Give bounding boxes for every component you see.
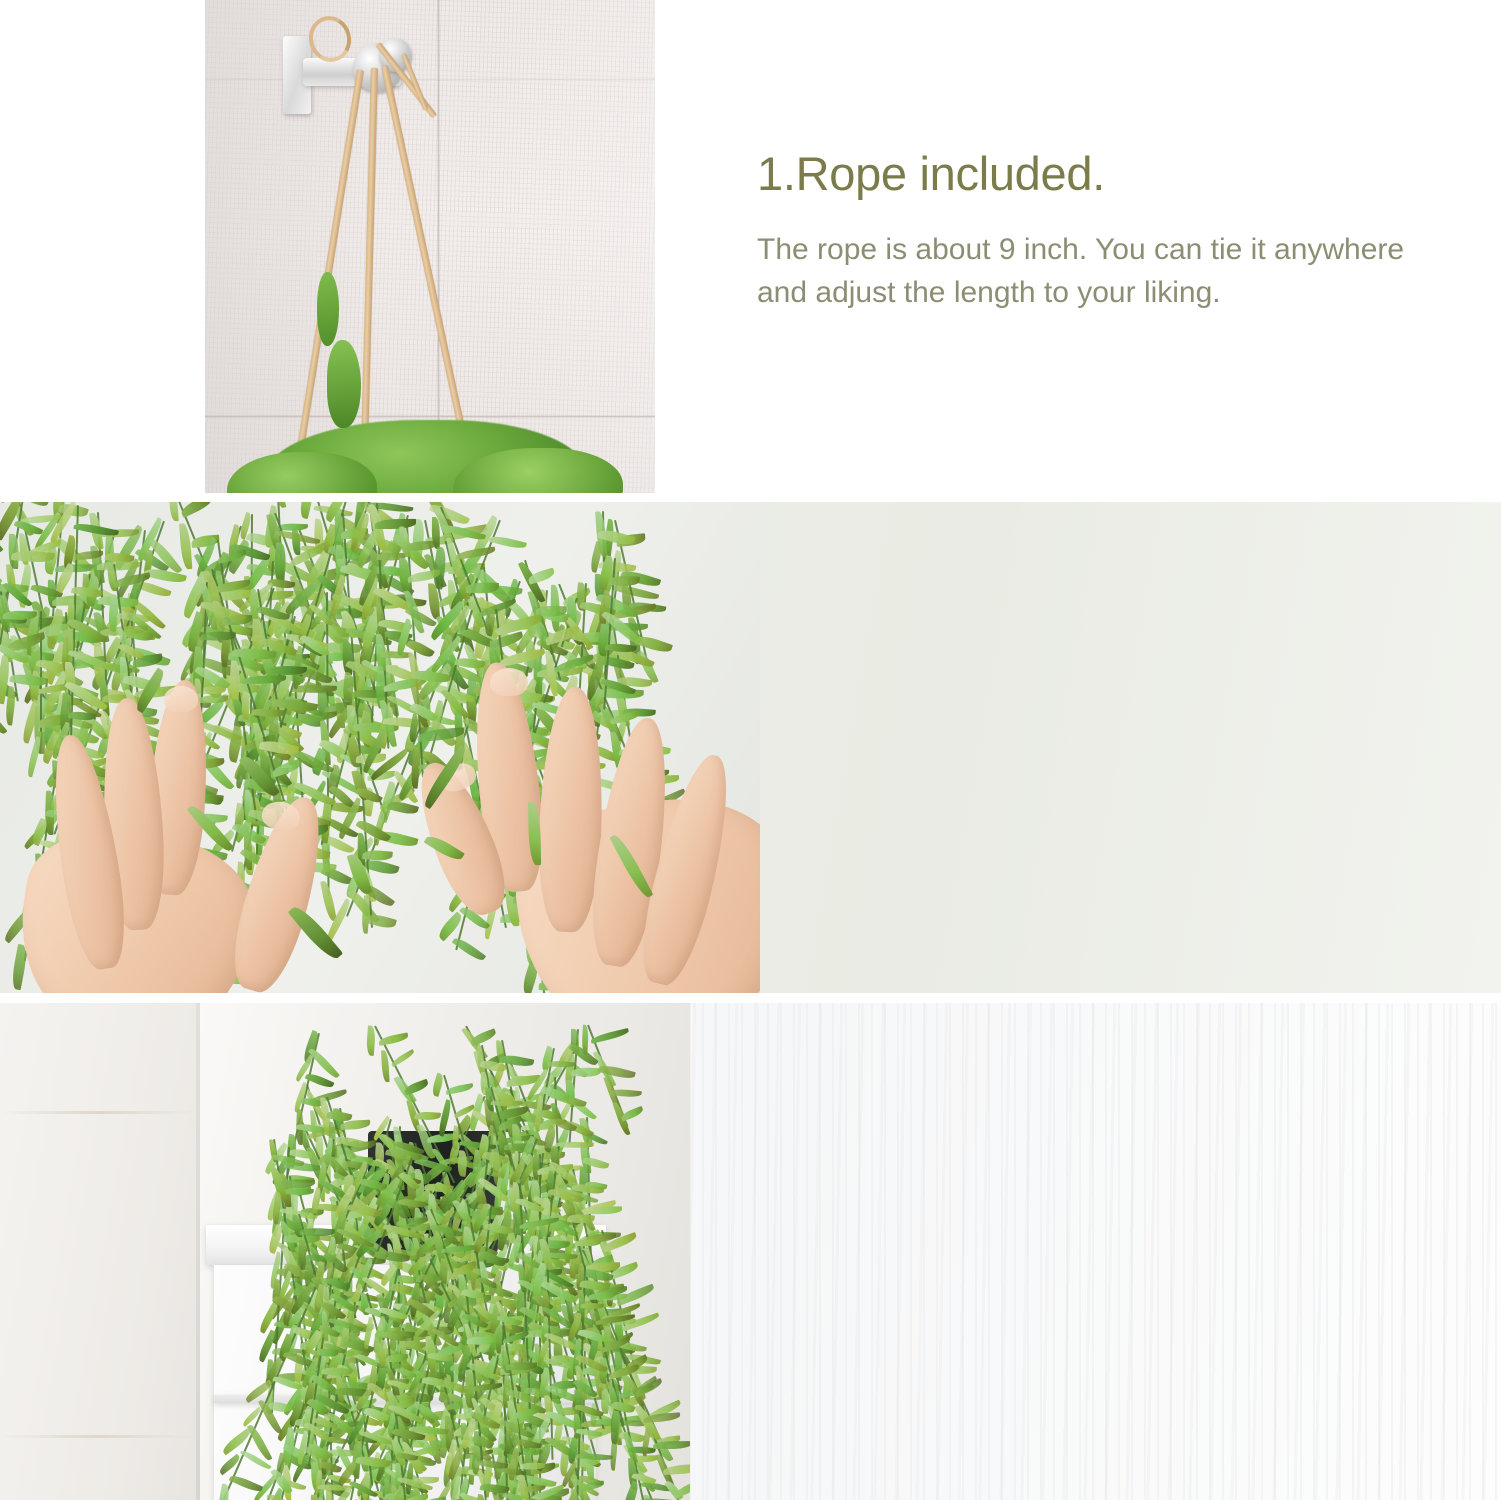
panel-1-body-line-2: and adjust the length to your liking. [757, 271, 1457, 314]
plant-leaf [445, 1083, 474, 1095]
panel-3-photo [0, 1003, 690, 1500]
plant-leaf [378, 1033, 409, 1047]
rope-strand-center [361, 68, 378, 468]
plant-leaf [403, 1078, 429, 1094]
panel-1-heading: 1.Rope included. [757, 146, 1467, 202]
plant-vine-mid [327, 340, 361, 428]
plant-leaf [229, 1473, 263, 1494]
panel-2-photo [0, 502, 760, 993]
plant-leaf [390, 1049, 415, 1067]
plant-vine-upper [317, 272, 339, 346]
plant-leaf [457, 1150, 468, 1176]
panel-1-text-block: 1.Rope included. The rope is about 9 inc… [757, 146, 1467, 314]
plant-leaf [575, 1239, 601, 1246]
plant-leaf [467, 1336, 494, 1345]
panel-1-photo [205, 0, 655, 493]
plant-leaf [590, 1028, 629, 1043]
panel-1-body-line-1: The rope is about 9 inch. You can tie it… [757, 228, 1457, 271]
panel-1-body: The rope is about 9 inch. You can tie it… [757, 228, 1457, 314]
panel-2-sort-branches: 2.Sort branches in the way you like. And… [0, 502, 1501, 993]
plant-leaf [620, 1106, 645, 1122]
plant-leaf [653, 1441, 690, 1449]
plant-leaf-front [347, 852, 373, 896]
plant-leaf-front [609, 832, 653, 900]
plant-leaf-front [420, 745, 470, 809]
plant-leaf-front [132, 667, 168, 713]
pinched-leaves [0, 502, 760, 993]
panel-3-placed-stably: 3.Can be placed stably. Leaves hang down… [0, 1003, 1501, 1500]
plant-leaf [414, 1111, 440, 1121]
rope-strand-right [381, 65, 466, 436]
hanging-plant-foliage [0, 1003, 690, 1500]
plant-leaf [366, 1025, 376, 1055]
plant-leaf-front [239, 752, 280, 800]
plant-leaf [572, 1067, 601, 1077]
plant-leaf-front [528, 802, 541, 865]
plant-leaf [469, 1028, 497, 1046]
infographic-page: 1.Rope included. The rope is about 9 inc… [0, 0, 1501, 1500]
plant-leaf-front [187, 802, 234, 855]
plant-leaf-front [288, 902, 343, 964]
plant-leaf-front [424, 832, 465, 864]
panel-1-rope-included: 1.Rope included. The rope is about 9 inc… [0, 0, 1501, 493]
